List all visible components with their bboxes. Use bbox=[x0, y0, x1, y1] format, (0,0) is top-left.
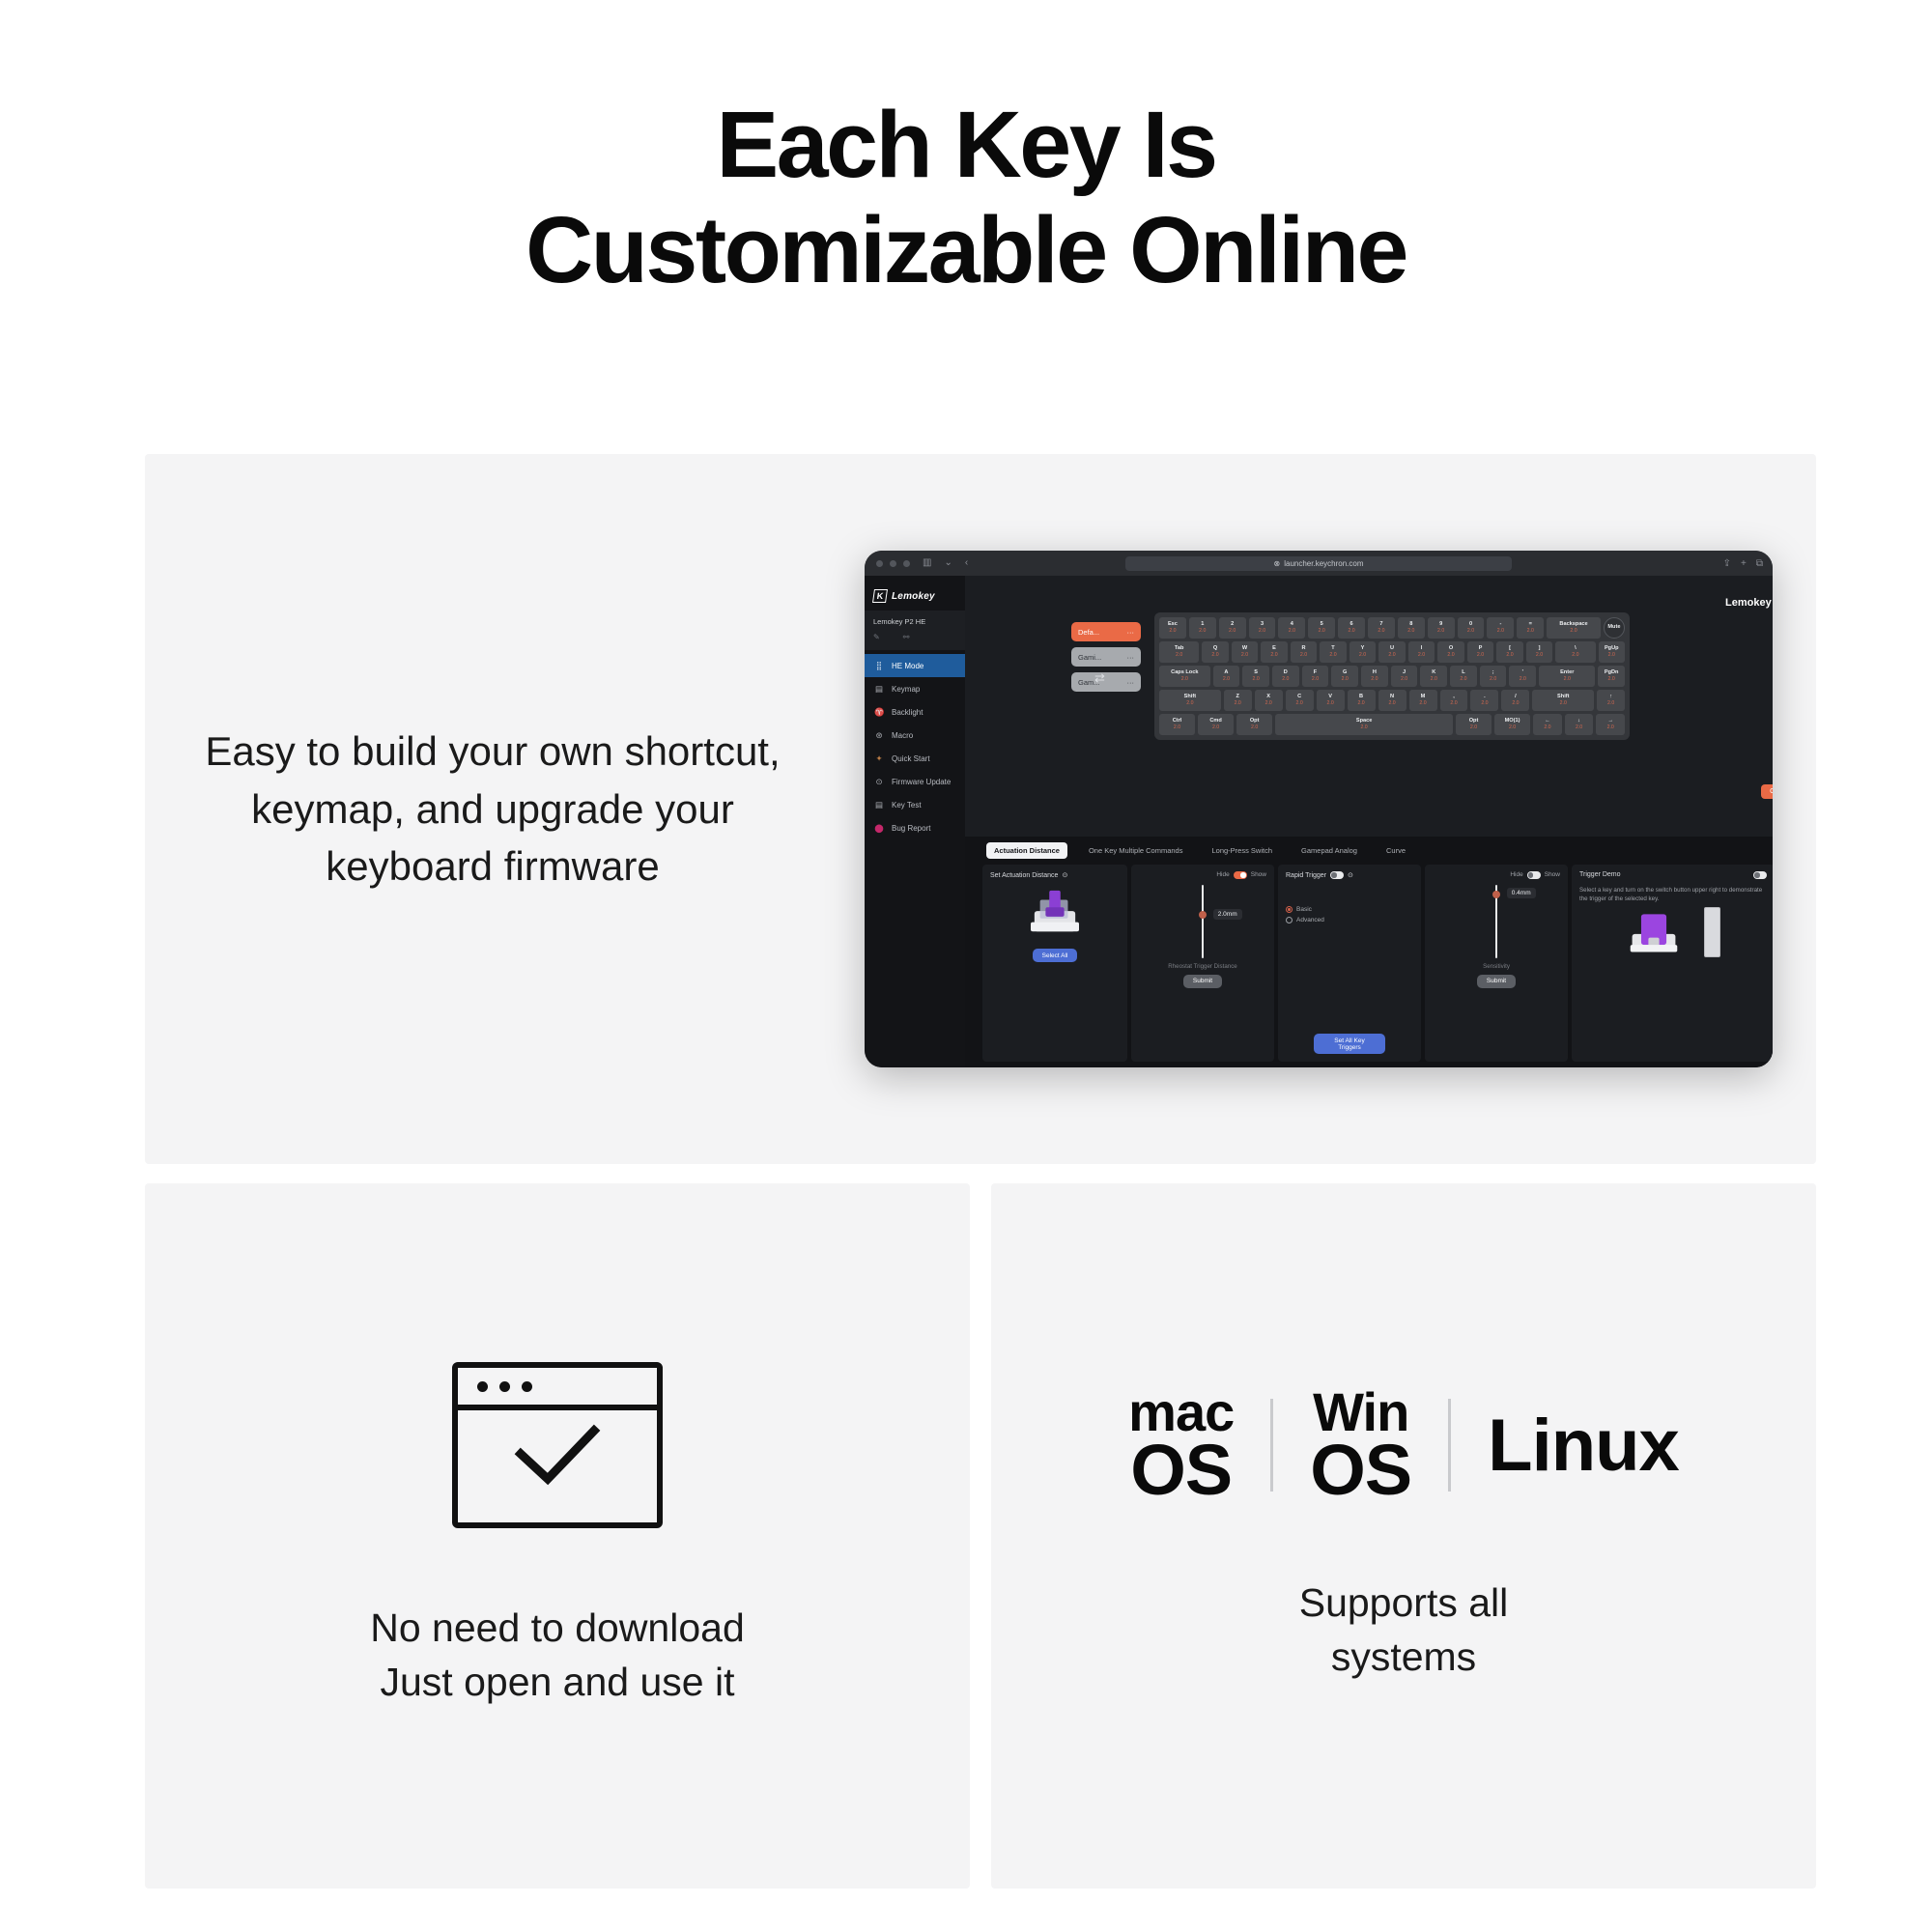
key-[interactable]: '2.0 bbox=[1509, 666, 1536, 687]
address-bar[interactable]: ⊗ launcher.keychron.com bbox=[1125, 556, 1512, 571]
select-all-button[interactable]: Select All bbox=[1033, 949, 1078, 962]
sidebar-label-backlight: Backlight bbox=[892, 708, 923, 717]
back-arrow-icon[interactable]: ‹ bbox=[965, 558, 968, 568]
clipboard-icon: ▤ bbox=[874, 800, 884, 810]
rapid-trigger-modes: Basic Advanced bbox=[1286, 906, 1413, 923]
key-actuation-value: 2.0 bbox=[1282, 676, 1289, 682]
radio-basic[interactable]: Basic bbox=[1286, 906, 1413, 913]
tab-one-key-multiple-commands[interactable]: One Key Multiple Commands bbox=[1081, 842, 1191, 859]
key-[interactable]: =2.0 bbox=[1517, 617, 1544, 639]
key-actuation-value: 2.0 bbox=[1186, 700, 1193, 706]
key-[interactable]: ←2.0 bbox=[1533, 714, 1562, 735]
show-label-sensitivity: Show bbox=[1545, 871, 1560, 878]
minimize-icon[interactable] bbox=[890, 560, 896, 567]
key-shift[interactable]: Shift2.0 bbox=[1159, 690, 1221, 711]
key-actuation-value: 2.0 bbox=[1570, 628, 1577, 634]
panel-sensitivity-header: Hide Show bbox=[1433, 871, 1560, 879]
key-p[interactable]: P2.0 bbox=[1467, 641, 1494, 663]
radio-label-basic: Basic bbox=[1296, 906, 1312, 913]
toggle-switch-trigger-demo[interactable] bbox=[1753, 871, 1767, 879]
key-ctrl[interactable]: Ctrl2.0 bbox=[1159, 714, 1195, 735]
slider-track[interactable]: 2.0mm bbox=[1202, 885, 1205, 958]
key-actuation-value: 2.0 bbox=[1497, 628, 1504, 634]
slider-knob[interactable] bbox=[1199, 911, 1207, 920]
distance-slider[interactable]: 2.0mm bbox=[1139, 885, 1266, 958]
key-actuation-value: 2.0 bbox=[1360, 724, 1367, 730]
bug-icon: ⬤ bbox=[874, 823, 884, 834]
key-actuation-value: 2.0 bbox=[1241, 652, 1248, 658]
os-windows-bottom: OS bbox=[1310, 1437, 1411, 1503]
key-actuation-value: 2.0 bbox=[1251, 724, 1258, 730]
key-actuation-value: 2.0 bbox=[1359, 652, 1366, 658]
feature-copy-launcher: Easy to build your own shortcut, keymap,… bbox=[145, 723, 821, 895]
keyboard-row: Caps Lock2.0A2.0S2.0D2.0F2.0G2.0H2.0J2.0… bbox=[1159, 666, 1625, 687]
tab-gamepad-analog[interactable]: Gamepad Analog bbox=[1293, 842, 1365, 859]
more-icon[interactable]: ··· bbox=[1127, 678, 1135, 687]
key-actuation-value: 2.0 bbox=[1357, 700, 1364, 706]
keyboard-row: Esc2.012.022.032.042.052.062.072.082.092… bbox=[1159, 617, 1625, 639]
key-[interactable]: ↓2.0 bbox=[1565, 714, 1594, 735]
key-actuation-value: 2.0 bbox=[1509, 724, 1516, 730]
feature-card-row-2: No need to download Just open and use it… bbox=[145, 1183, 1816, 1889]
os-windows: Win OS bbox=[1273, 1387, 1448, 1503]
key-caps-lock[interactable]: Caps Lock2.0 bbox=[1159, 666, 1210, 687]
key-w[interactable]: W2.0 bbox=[1232, 641, 1259, 663]
sidebar-label-quick-start: Quick Start bbox=[892, 754, 930, 763]
key-mo-1[interactable]: MO(1)2.0 bbox=[1494, 714, 1530, 735]
key-actuation-value: 2.0 bbox=[1300, 652, 1307, 658]
key-actuation-value: 2.0 bbox=[1447, 652, 1454, 658]
key-[interactable]: .2.0 bbox=[1470, 690, 1498, 711]
os-logo-row: mac OS Win OS Linux bbox=[1092, 1387, 1716, 1503]
device-card[interactable]: Lemokey P2 HE ✎ ⚯ bbox=[865, 611, 965, 650]
key-actuation-value: 2.0 bbox=[1259, 628, 1265, 634]
supports-caption: Supports all systems bbox=[1299, 1577, 1509, 1685]
key-2[interactable]: 22.0 bbox=[1219, 617, 1246, 639]
radio-advanced[interactable]: Advanced bbox=[1286, 917, 1413, 923]
key-actuation-value: 2.0 bbox=[1181, 676, 1188, 682]
plus-icon[interactable]: + bbox=[1741, 558, 1747, 569]
key-actuation-value: 2.0 bbox=[1560, 700, 1567, 706]
window-dot bbox=[499, 1381, 510, 1392]
key-y[interactable]: Y2.0 bbox=[1350, 641, 1377, 663]
headline-line-2: Customizable Online bbox=[0, 198, 1932, 303]
key-x[interactable]: X2.0 bbox=[1255, 690, 1283, 711]
profile-item-default[interactable]: Defa... ··· bbox=[1071, 622, 1141, 641]
trigger-demo-bar bbox=[1704, 907, 1720, 957]
rocket-icon: ✦ bbox=[874, 753, 884, 764]
page-root: Each Key Is Customizable Online Easy to … bbox=[0, 0, 1932, 1932]
profile-item-gaming-1[interactable]: Gami... ··· bbox=[1071, 647, 1141, 667]
sidebar-item-bug-report[interactable]: ⬤ Bug Report bbox=[865, 816, 965, 839]
key-actuation-value: 2.0 bbox=[1176, 652, 1182, 658]
key-actuation-value: 2.0 bbox=[1607, 724, 1614, 730]
no-download-caption: No need to download Just open and use it bbox=[370, 1602, 745, 1710]
download-icon: ⊙ bbox=[874, 777, 884, 787]
checkmark-icon bbox=[509, 1421, 606, 1491]
key-actuation-value: 2.0 bbox=[1460, 676, 1466, 682]
key-o[interactable]: O2.0 bbox=[1437, 641, 1464, 663]
device-actions: ✎ ⚯ bbox=[873, 633, 956, 641]
keyboard-visualizer[interactable]: Esc2.012.022.032.042.052.062.072.082.092… bbox=[1154, 612, 1630, 740]
key-actuation-value: 2.0 bbox=[1371, 676, 1378, 682]
os-linux: Linux bbox=[1451, 1404, 1716, 1488]
tab-curve[interactable]: Curve bbox=[1378, 842, 1413, 859]
key-actuation-value: 2.0 bbox=[1265, 700, 1272, 706]
key-[interactable]: [2.0 bbox=[1496, 641, 1523, 663]
slider-value-sensitivity: 0.4mm bbox=[1507, 888, 1536, 898]
key-q[interactable]: Q2.0 bbox=[1202, 641, 1229, 663]
sidebar-item-firmware-update[interactable]: ⊙ Firmware Update bbox=[865, 770, 965, 793]
slider-track[interactable]: 0.4mm bbox=[1495, 885, 1498, 958]
keyboard-icon: ▤ bbox=[874, 684, 884, 695]
key-e[interactable]: E2.0 bbox=[1261, 641, 1288, 663]
key-g[interactable]: G2.0 bbox=[1331, 666, 1358, 687]
key-actuation-value: 2.0 bbox=[1607, 700, 1614, 706]
toggle-switch-sensitivity[interactable] bbox=[1527, 871, 1541, 879]
feature-card-grid: Easy to build your own shortcut, keymap,… bbox=[145, 454, 1816, 1889]
toggle-switch-distance[interactable] bbox=[1234, 871, 1247, 879]
panel-trigger-demo: Trigger Demo Select a key and turn on th… bbox=[1572, 865, 1773, 1062]
sidebar-item-backlight[interactable]: ♈ Backlight bbox=[865, 700, 965, 724]
more-icon[interactable]: ··· bbox=[1127, 653, 1135, 662]
key-[interactable]: /2.0 bbox=[1501, 690, 1529, 711]
key-t[interactable]: T2.0 bbox=[1320, 641, 1347, 663]
key-pgdn[interactable]: PgDn2.0 bbox=[1598, 666, 1625, 687]
sidebar-item-he-mode[interactable]: ⣿ HE Mode bbox=[865, 654, 965, 677]
device-name: Lemokey P2 HE bbox=[873, 617, 956, 626]
trigger-demo-visual bbox=[1579, 907, 1767, 957]
profile-label-gaming-1: Gami... bbox=[1078, 653, 1101, 662]
key-v[interactable]: V2.0 bbox=[1317, 690, 1345, 711]
brand-logo: K Lemokey bbox=[865, 583, 965, 611]
submit-button-distance[interactable]: Submit bbox=[1183, 975, 1222, 988]
key-[interactable]: ]2.0 bbox=[1526, 641, 1553, 663]
key-space[interactable]: Space2.0 bbox=[1275, 714, 1453, 735]
trigger-demo-description: Select a key and turn on the switch butt… bbox=[1579, 886, 1767, 904]
key-[interactable]: ,2.0 bbox=[1440, 690, 1468, 711]
key-actuation-value: 2.0 bbox=[1319, 628, 1325, 634]
key-[interactable]: \2.0 bbox=[1555, 641, 1595, 663]
key-[interactable]: ↑2.0 bbox=[1597, 690, 1625, 711]
key-6[interactable]: 62.0 bbox=[1338, 617, 1365, 639]
key-actuation-value: 2.0 bbox=[1296, 700, 1303, 706]
sidebar-label-bug-report: Bug Report bbox=[892, 824, 930, 833]
window-titlebar-graphic bbox=[458, 1368, 657, 1410]
chevron-down-icon[interactable]: ⌄ bbox=[944, 558, 952, 568]
app-sidebar: K Lemokey Lemokey P2 HE ✎ ⚯ bbox=[865, 576, 965, 1067]
sidebar-label-he-mode: HE Mode bbox=[892, 662, 923, 670]
lemokey-mark-icon: K bbox=[872, 589, 888, 603]
link-icon[interactable]: ⚯ bbox=[903, 633, 910, 641]
key-i[interactable]: I2.0 bbox=[1408, 641, 1435, 663]
supports-content: mac OS Win OS Linux Supports all sy bbox=[991, 1183, 1816, 1889]
key-1[interactable]: 12.0 bbox=[1189, 617, 1216, 639]
key-actuation-value: 2.0 bbox=[1418, 652, 1425, 658]
headline-line-1: Each Key Is bbox=[716, 92, 1215, 197]
key-actuation-value: 2.0 bbox=[1520, 676, 1526, 682]
tabs-icon[interactable]: ⧉ bbox=[1756, 558, 1763, 569]
key-actuation-value: 2.0 bbox=[1490, 676, 1496, 682]
radio-label-advanced: Advanced bbox=[1296, 917, 1324, 923]
app-body: K Lemokey Lemokey P2 HE ✎ ⚯ bbox=[865, 576, 1773, 1067]
tab-long-press-switch[interactable]: Long-Press Switch bbox=[1204, 842, 1280, 859]
panel-title-rapid-trigger: Rapid Trigger ⊙ bbox=[1286, 871, 1413, 879]
launcher-screenshot: ▥ ⌄ ‹ ⊗ launcher.keychron.com ⇪ + ⧉ bbox=[821, 551, 1816, 1067]
key-actuation-value: 2.0 bbox=[1212, 724, 1219, 730]
hide-label-distance: Hide bbox=[1216, 871, 1229, 878]
key-actuation-value: 2.0 bbox=[1270, 652, 1277, 658]
sensitivity-slider[interactable]: 0.4mm bbox=[1433, 885, 1560, 958]
key-actuation-value: 2.0 bbox=[1211, 652, 1218, 658]
key-k[interactable]: K2.0 bbox=[1420, 666, 1447, 687]
key-r[interactable]: R2.0 bbox=[1291, 641, 1318, 663]
key-actuation-value: 2.0 bbox=[1576, 724, 1582, 730]
key-l[interactable]: L2.0 bbox=[1450, 666, 1477, 687]
key-actuation-value: 2.0 bbox=[1431, 676, 1437, 682]
key-actuation-value: 2.0 bbox=[1450, 700, 1457, 706]
keyboard-row: Shift2.0Z2.0X2.0C2.0V2.0B2.0N2.0M2.0,2.0… bbox=[1159, 690, 1625, 711]
panel-set-actuation-distance: Set Actuation Distance ⊙ bbox=[982, 865, 1127, 1062]
key-c[interactable]: C2.0 bbox=[1286, 690, 1314, 711]
no-download-content: No need to download Just open and use it bbox=[145, 1183, 970, 1889]
macro-icon: ⊛ bbox=[874, 730, 884, 741]
maximize-icon[interactable] bbox=[903, 560, 910, 567]
key-actuation-value: 2.0 bbox=[1512, 700, 1519, 706]
key-actuation-value: 2.0 bbox=[1388, 652, 1395, 658]
slider-caption-distance: Rheostat Trigger Distance bbox=[1139, 963, 1266, 970]
key-actuation-value: 2.0 bbox=[1312, 676, 1319, 682]
hide-label-sensitivity: Hide bbox=[1510, 871, 1522, 878]
panel-sensitivity: Hide Show 0.4m bbox=[1425, 865, 1568, 1062]
app-main: Lemokey P2 HE Defa... ··· Gami... ··· bbox=[965, 576, 1773, 1067]
more-icon[interactable]: ··· bbox=[1127, 628, 1135, 637]
key-actuation-value: 2.0 bbox=[1481, 700, 1488, 706]
window-dot bbox=[477, 1381, 488, 1392]
key-3[interactable]: 32.0 bbox=[1249, 617, 1276, 639]
hide-show-toggle-sensitivity[interactable]: Hide Show bbox=[1510, 871, 1560, 879]
key-pgup[interactable]: PgUp2.0 bbox=[1599, 641, 1626, 663]
browser-titlebar: ▥ ⌄ ‹ ⊗ launcher.keychron.com ⇪ + ⧉ bbox=[865, 551, 1773, 576]
key-actuation-value: 2.0 bbox=[1327, 700, 1334, 706]
key-a[interactable]: A2.0 bbox=[1213, 666, 1240, 687]
key-mute[interactable]: Mute bbox=[1604, 617, 1625, 639]
slider-caption-sensitivity: Sensitivity bbox=[1433, 963, 1560, 970]
key-m[interactable]: M2.0 bbox=[1409, 690, 1437, 711]
key-s[interactable]: S2.0 bbox=[1242, 666, 1269, 687]
slider-value-distance: 2.0mm bbox=[1213, 909, 1242, 920]
switch-illustration bbox=[1027, 889, 1083, 937]
profile-item-gaming-2[interactable]: Gam... ··· bbox=[1071, 672, 1141, 692]
key-[interactable]: ;2.0 bbox=[1480, 666, 1507, 687]
key-actuation-value: 2.0 bbox=[1419, 700, 1426, 706]
browser-toolbar-right: ⇪ + ⧉ bbox=[1723, 558, 1763, 569]
url-text: launcher.keychron.com bbox=[1284, 559, 1363, 568]
sidebar-label-keymap: Keymap bbox=[892, 685, 920, 694]
key-actuation-value: 2.0 bbox=[1329, 652, 1336, 658]
key-5[interactable]: 52.0 bbox=[1308, 617, 1335, 639]
key-[interactable]: -2.0 bbox=[1487, 617, 1514, 639]
keyboard-title: Lemokey P2 HE bbox=[1725, 597, 1773, 609]
key-actuation-value: 2.0 bbox=[1169, 628, 1176, 634]
sidebar-label-key-test: Key Test bbox=[892, 801, 922, 810]
key-b[interactable]: B2.0 bbox=[1348, 690, 1376, 711]
slider-knob[interactable] bbox=[1492, 891, 1501, 899]
rapid-trigger-label: Rapid Trigger bbox=[1286, 872, 1326, 879]
key-cmd[interactable]: Cmd2.0 bbox=[1198, 714, 1234, 735]
share-icon[interactable]: ⇪ bbox=[1723, 558, 1731, 569]
brand-name: Lemokey bbox=[892, 591, 935, 602]
key-actuation-value: 2.0 bbox=[1544, 724, 1550, 730]
key-actuation-value: 2.0 bbox=[1467, 628, 1474, 634]
sliders-icon: ⣿ bbox=[874, 661, 884, 671]
sidebar-toggle-icon[interactable]: ▥ bbox=[923, 558, 931, 568]
no-download-line-1: No need to download bbox=[370, 1602, 745, 1656]
key-actuation-value: 2.0 bbox=[1388, 700, 1395, 706]
key-9[interactable]: 92.0 bbox=[1428, 617, 1455, 639]
trigger-demo-header: Trigger Demo bbox=[1579, 871, 1767, 879]
key-tab[interactable]: Tab2.0 bbox=[1159, 641, 1199, 663]
radio-dot-basic bbox=[1286, 906, 1293, 913]
key-z[interactable]: Z2.0 bbox=[1224, 690, 1252, 711]
sidebar-item-key-test[interactable]: ▤ Key Test bbox=[865, 793, 965, 816]
sidebar-label-firmware-update: Firmware Update bbox=[892, 778, 951, 786]
panel-tabs: Actuation Distance One Key Multiple Comm… bbox=[965, 837, 1773, 865]
close-icon[interactable] bbox=[876, 560, 883, 567]
profile-list: Defa... ··· Gami... ··· Gam... bbox=[1071, 622, 1141, 697]
supports-line-2: systems bbox=[1299, 1631, 1509, 1685]
bulb-icon: ♈ bbox=[874, 707, 884, 718]
panel-rapid-trigger: Rapid Trigger ⊙ Basic bbox=[1278, 865, 1421, 1062]
key-j[interactable]: J2.0 bbox=[1391, 666, 1418, 687]
key-actuation-value: 2.0 bbox=[1253, 676, 1260, 682]
key-actuation-value: 2.0 bbox=[1378, 628, 1384, 634]
supports-line-1: Supports all bbox=[1299, 1577, 1509, 1631]
set-all-key-triggers-button[interactable]: Set All Key Triggers bbox=[1314, 1034, 1385, 1054]
key-actuation-value: 2.0 bbox=[1470, 724, 1477, 730]
key-0[interactable]: 02.0 bbox=[1458, 617, 1485, 639]
key-f[interactable]: F2.0 bbox=[1302, 666, 1329, 687]
hide-show-toggle-distance[interactable]: Hide Show bbox=[1216, 871, 1266, 879]
key-d[interactable]: D2.0 bbox=[1272, 666, 1299, 687]
feature-card-supports-all-systems: mac OS Win OS Linux Supports all sy bbox=[991, 1183, 1816, 1889]
os-macos-bottom: OS bbox=[1130, 1437, 1232, 1503]
key-7[interactable]: 72.0 bbox=[1368, 617, 1395, 639]
panel-rheostat-trigger-distance: Hide Show 2.0m bbox=[1131, 865, 1274, 1062]
key-actuation-value: 2.0 bbox=[1401, 676, 1407, 682]
feature-card-launcher: Easy to build your own shortcut, keymap,… bbox=[145, 454, 1816, 1164]
key-actuation-value: 2.0 bbox=[1527, 628, 1534, 634]
key-shift[interactable]: Shift2.0 bbox=[1532, 690, 1594, 711]
key-actuation-value: 2.0 bbox=[1229, 628, 1236, 634]
question-icon[interactable]: ⊙ bbox=[1348, 871, 1353, 879]
page-title: Each Key Is Customizable Online bbox=[0, 0, 1932, 302]
radio-dot-advanced bbox=[1286, 917, 1293, 923]
swap-arrows-icon[interactable]: ⇄ bbox=[1094, 670, 1105, 686]
he-mode-panel: Actuation Distance One Key Multiple Comm… bbox=[965, 837, 1773, 1067]
key-opt[interactable]: Opt2.0 bbox=[1236, 714, 1272, 735]
key-actuation-value: 2.0 bbox=[1477, 652, 1484, 658]
key-actuation-value: 2.0 bbox=[1235, 700, 1241, 706]
key-u[interactable]: U2.0 bbox=[1378, 641, 1406, 663]
panel-title-actuation-label: Set Actuation Distance bbox=[990, 872, 1058, 879]
submit-button-sensitivity[interactable]: Submit bbox=[1477, 975, 1516, 988]
window-dot bbox=[522, 1381, 532, 1392]
sidebar-item-quick-start[interactable]: ✦ Quick Start bbox=[865, 747, 965, 770]
browser-window: ▥ ⌄ ‹ ⊗ launcher.keychron.com ⇪ + ⧉ bbox=[865, 551, 1773, 1067]
key-4[interactable]: 42.0 bbox=[1278, 617, 1305, 639]
pen-icon[interactable]: ✎ bbox=[873, 633, 880, 641]
toggle-switch-rapid-trigger[interactable] bbox=[1330, 871, 1344, 879]
key-8[interactable]: 82.0 bbox=[1398, 617, 1425, 639]
key-actuation-value: 2.0 bbox=[1608, 652, 1615, 658]
trigger-demo-title: Trigger Demo bbox=[1579, 871, 1621, 878]
key-opt[interactable]: Opt2.0 bbox=[1456, 714, 1492, 735]
key-n[interactable]: N2.0 bbox=[1378, 690, 1406, 711]
key-actuation-value: 2.0 bbox=[1223, 676, 1230, 682]
key-backspace[interactable]: Backspace2.0 bbox=[1547, 617, 1601, 639]
key-actuation-value: 2.0 bbox=[1174, 724, 1180, 730]
key-actuation-value: 2.0 bbox=[1572, 652, 1578, 658]
key-[interactable]: →2.0 bbox=[1596, 714, 1625, 735]
key-actuation-value: 2.0 bbox=[1506, 652, 1513, 658]
lock-icon: ⊗ bbox=[1274, 559, 1281, 568]
sidebar-nav: ⣿ HE Mode ▤ Keymap ♈ Backlight bbox=[865, 654, 965, 839]
sidebar-item-macro[interactable]: ⊛ Macro bbox=[865, 724, 965, 747]
key-actuation-value: 2.0 bbox=[1342, 676, 1349, 682]
key-esc[interactable]: Esc2.0 bbox=[1159, 617, 1186, 639]
key-actuation-value: 2.0 bbox=[1348, 628, 1354, 634]
os-macos: mac OS bbox=[1092, 1387, 1270, 1503]
key-enter[interactable]: Enter2.0 bbox=[1539, 666, 1595, 687]
tab-actuation-distance[interactable]: Actuation Distance bbox=[986, 842, 1067, 859]
browser-window-check-icon bbox=[452, 1362, 663, 1528]
show-label-distance: Show bbox=[1251, 871, 1266, 878]
keyboard-row: Ctrl2.0Cmd2.0Opt2.0Space2.0Opt2.0MO(1)2.… bbox=[1159, 714, 1625, 735]
panel-title-actuation: Set Actuation Distance ⊙ bbox=[990, 871, 1120, 879]
key-actuation-value: 2.0 bbox=[1407, 628, 1414, 634]
key-h[interactable]: H2.0 bbox=[1361, 666, 1388, 687]
question-icon[interactable]: ⊙ bbox=[1062, 871, 1067, 879]
key-actuation-value: 2.0 bbox=[1199, 628, 1206, 634]
calibration-button[interactable]: Calibration bbox=[1761, 784, 1773, 799]
keyboard-row: Tab2.0Q2.0W2.0E2.0R2.0T2.0Y2.0U2.0I2.0O2… bbox=[1159, 641, 1625, 663]
key-actuation-value: 2.0 bbox=[1437, 628, 1444, 634]
keyboard-stage: Lemokey P2 HE Defa... ··· Gami... ··· bbox=[965, 576, 1773, 837]
profile-label-default: Defa... bbox=[1078, 628, 1099, 637]
key-actuation-value: 2.0 bbox=[1536, 652, 1543, 658]
feature-card-no-download: No need to download Just open and use it bbox=[145, 1183, 970, 1889]
key-actuation-value: 2.0 bbox=[1608, 676, 1615, 682]
sidebar-item-keymap[interactable]: ▤ Keymap bbox=[865, 677, 965, 700]
switch-illustration-demo bbox=[1627, 907, 1681, 957]
key-actuation-value: 2.0 bbox=[1564, 676, 1571, 682]
key-label: Mute bbox=[1607, 625, 1620, 631]
panel-columns: Set Actuation Distance ⊙ bbox=[965, 865, 1773, 1067]
no-download-line-2: Just open and use it bbox=[370, 1656, 745, 1710]
panel-distance-header: Hide Show bbox=[1139, 871, 1266, 879]
sidebar-label-macro: Macro bbox=[892, 731, 913, 740]
key-actuation-value: 2.0 bbox=[1289, 628, 1295, 634]
